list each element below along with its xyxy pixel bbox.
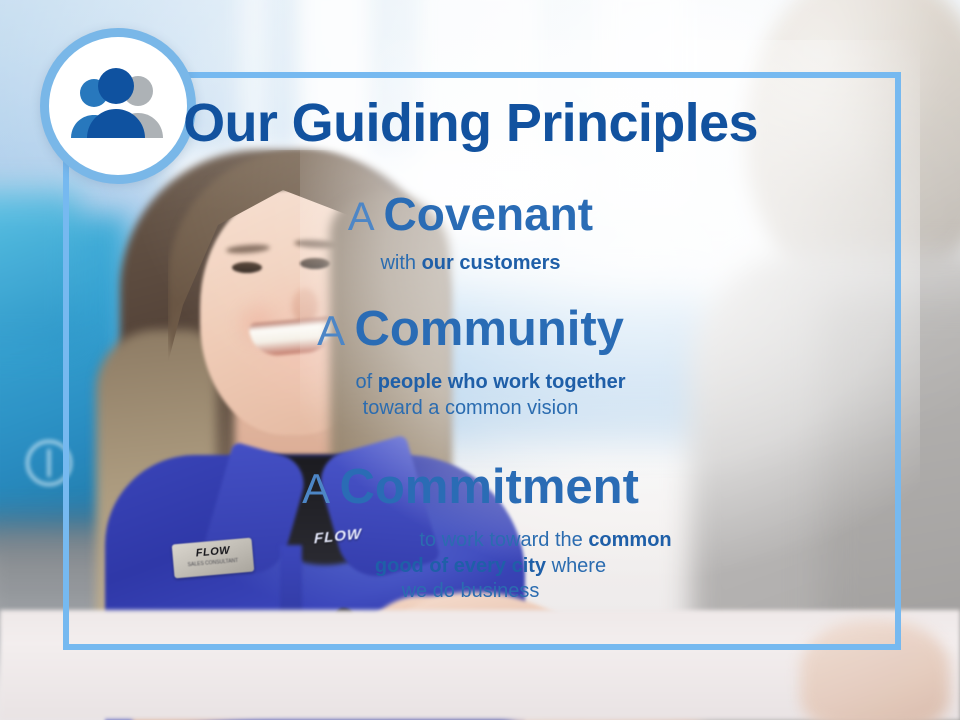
poster-text-content: Our Guiding Principles A Covenant with o…	[63, 72, 901, 650]
text-part-bold: common	[588, 529, 671, 551]
principle-article: A	[317, 307, 354, 354]
principle-keyword: Covenant	[384, 188, 594, 240]
principle-article: A	[302, 465, 339, 512]
principle-heading: A Covenant	[63, 190, 878, 239]
principle-heading: A Commitment	[63, 462, 878, 514]
principle-description: of people who work together toward a com…	[63, 370, 878, 421]
text-part: we do business	[402, 580, 540, 602]
principle-description: with our customers	[63, 251, 878, 277]
poster-root: FLOW SALES CONSULTANT FLOW	[0, 0, 960, 720]
text-part-bold: people who work together	[378, 371, 626, 393]
text-part: toward a common vision	[363, 397, 579, 419]
principle-line: good of every city where	[63, 554, 878, 580]
text-part-bold: our customers	[422, 252, 561, 274]
principle-line: to work toward the common	[63, 528, 878, 554]
principle-line: toward a common vision	[63, 396, 878, 422]
principle-community: A Community of people who work together …	[63, 304, 878, 421]
principle-covenant: A Covenant with our customers	[63, 190, 878, 276]
text-part: of	[355, 371, 377, 393]
text-part: with	[380, 252, 421, 274]
principle-article: A	[348, 195, 384, 239]
principle-commitment: A Commitment to work toward the common g…	[63, 462, 878, 605]
principle-heading: A Community	[63, 304, 878, 356]
page-title: Our Guiding Principles	[63, 96, 878, 150]
principle-line: we do business	[63, 579, 878, 605]
text-part-bold: good of every city	[375, 555, 546, 577]
text-part: where	[546, 555, 606, 577]
principle-line: of people who work together	[63, 370, 878, 396]
principle-description: to work toward the common good of every …	[63, 528, 878, 605]
principle-keyword: Commitment	[339, 460, 638, 514]
principle-keyword: Community	[354, 302, 624, 356]
principle-line: with our customers	[63, 251, 878, 277]
text-part: to work toward the	[419, 529, 588, 551]
